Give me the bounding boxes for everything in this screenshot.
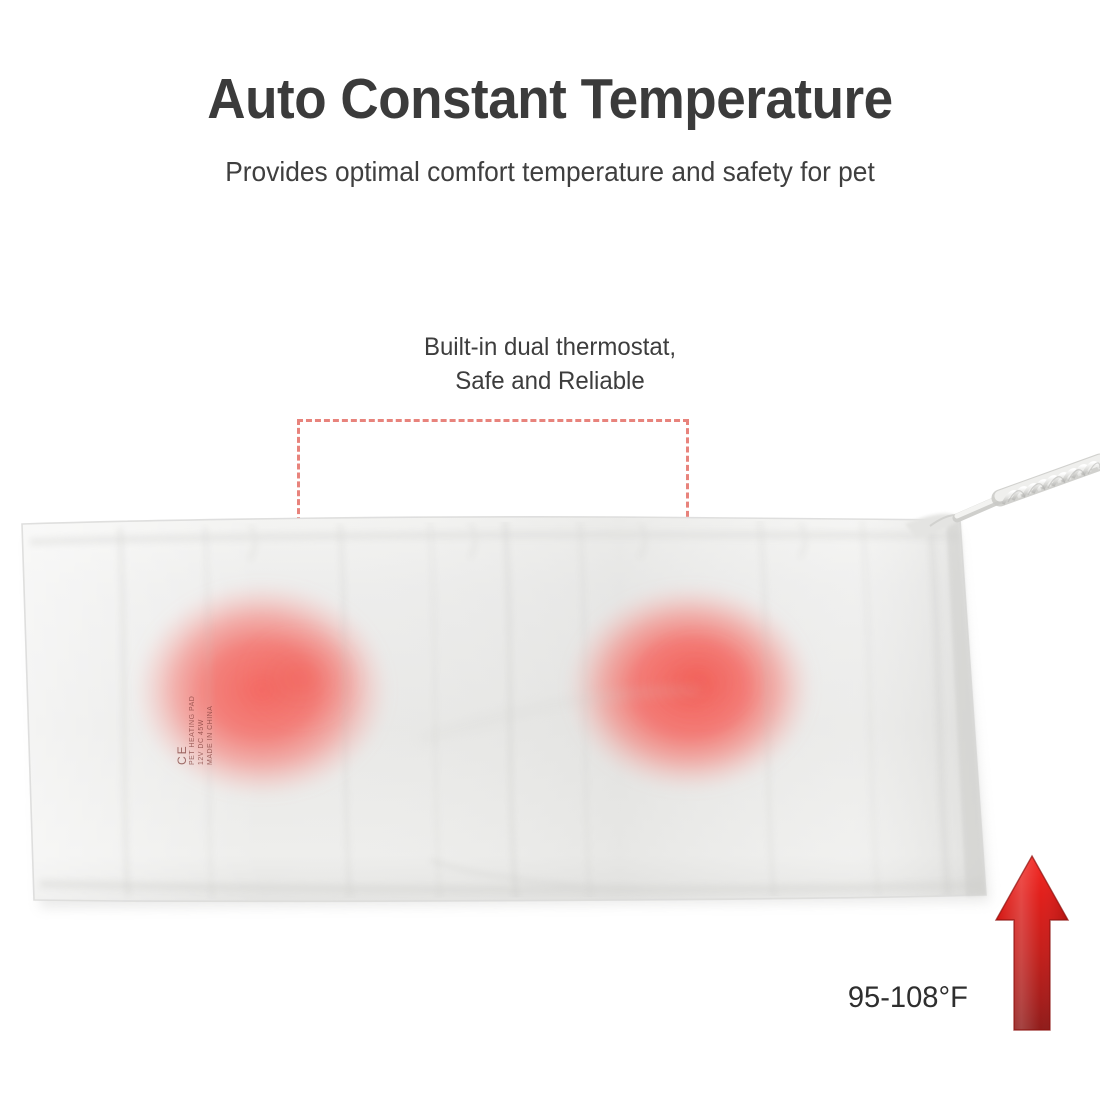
page-subtitle: Provides optimal comfort temperature and… [33, 156, 1067, 188]
page-title: Auto Constant Temperature [39, 66, 1062, 132]
temperature-range-label: 95-108°F [848, 981, 968, 1015]
callout-line-1: Built-in dual thermostat, [22, 330, 1078, 364]
callout-line-2: Safe and Reliable [22, 364, 1078, 398]
up-arrow-icon [992, 852, 1072, 1034]
leader-line-horizontal [297, 419, 689, 422]
heating-pad-photo [0, 440, 1100, 940]
thermostat-callout: Built-in dual thermostat, Safe and Relia… [22, 330, 1078, 398]
power-cord [905, 460, 1100, 538]
pad-body [22, 517, 990, 908]
product-feature-graphic: Auto Constant Temperature Provides optim… [0, 0, 1100, 1100]
